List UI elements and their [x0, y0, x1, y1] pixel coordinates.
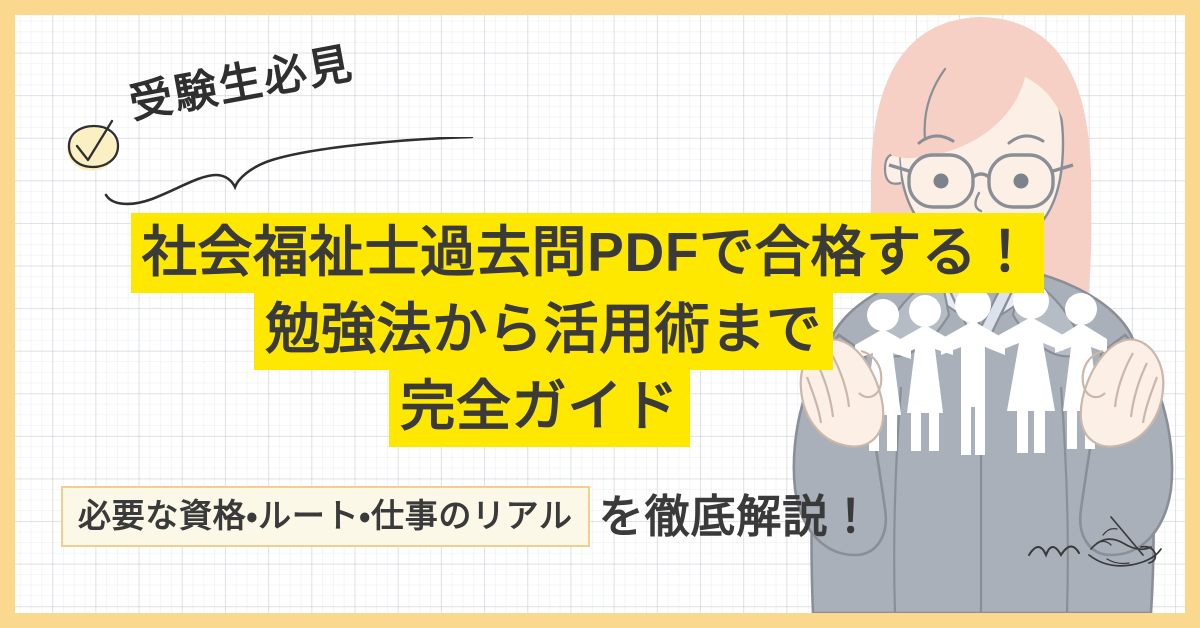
subtitle-boxed-text: 必要な資格・ルート・仕事のリアル — [61, 486, 590, 547]
inner-panel: 受験生必見 社会福祉士過去問PDFで合格する！ 勉強法から活用術まで 完全ガイド… — [15, 15, 1185, 613]
subtitle: 必要な資格・ルート・仕事のリアル を徹底解説！ — [61, 486, 874, 547]
swoosh-underline-icon — [104, 137, 474, 207]
eyecatch-canvas: 受験生必見 社会福祉士過去問PDFで合格する！ 勉強法から活用術まで 完全ガイド… — [0, 0, 1200, 628]
headline-row-3: 完全ガイド — [15, 367, 1160, 447]
headline-line-1: 社会福祉士過去問PDFで合格する！ — [131, 213, 1044, 293]
headline: 社会福祉士過去問PDFで合格する！ 勉強法から活用術まで 完全ガイド — [15, 213, 1160, 447]
headline-line-2: 勉強法から活用術まで — [254, 290, 833, 370]
badge: 受験生必見 — [52, 55, 472, 200]
headline-row-1: 社会福祉士過去問PDFで合格する！ — [15, 213, 1160, 293]
subtitle-tail-text: を徹底解説！ — [599, 494, 874, 539]
headline-line-3: 完全ガイド — [389, 367, 689, 447]
headline-row-2: 勉強法から活用術まで — [15, 290, 1160, 370]
